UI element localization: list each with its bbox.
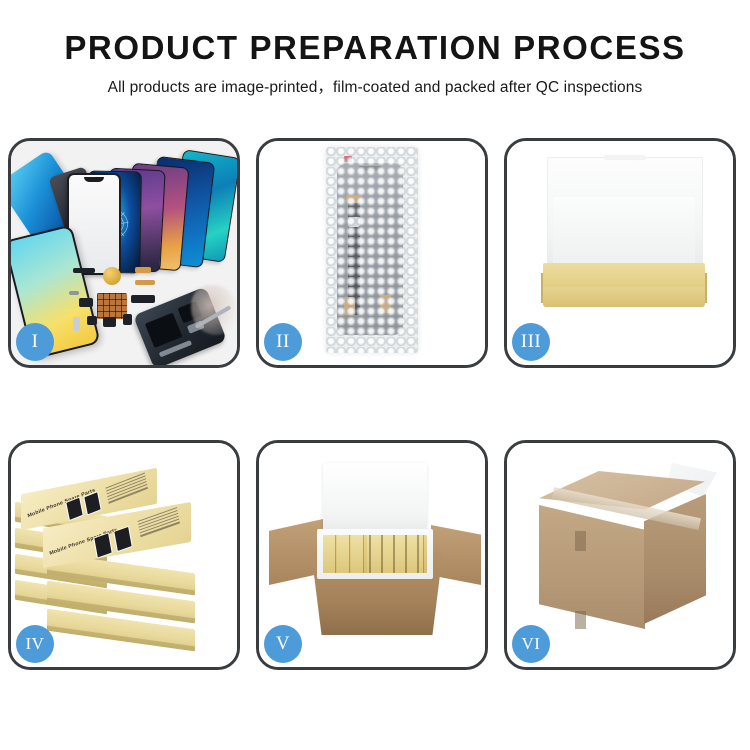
page-title: PRODUCT PREPARATION PROCESS — [0, 30, 750, 66]
box-art-screen-2a — [93, 532, 113, 559]
phone-display-fan — [73, 151, 233, 276]
process-step-4: Mobile Phone Spare Parts Mobile Phone Sp… — [8, 440, 240, 670]
process-step-6: VI — [504, 440, 736, 670]
step-badge-6: VI — [512, 625, 550, 663]
process-step-2: II — [256, 138, 488, 368]
step-badge-4: IV — [16, 625, 54, 663]
flex-cable-2 — [135, 280, 155, 285]
vibration-motor — [103, 317, 116, 327]
camera-module — [87, 316, 97, 325]
bubble-wrap-bag — [326, 147, 418, 353]
step-badge-3: III — [512, 323, 550, 361]
step-badge-1: I — [16, 323, 54, 361]
step-badge-5: V — [264, 625, 302, 663]
carton-front-face — [539, 505, 645, 629]
box-art-screen-1b — [83, 491, 102, 516]
flex-cable-1 — [135, 267, 151, 273]
flex-cable-3 — [131, 295, 155, 303]
bubble-texture — [326, 147, 418, 353]
foam-sheet — [553, 197, 695, 271]
process-step-3: III — [504, 138, 736, 368]
box-art-screen-2b — [113, 526, 133, 553]
box-art-screen-1a — [65, 497, 84, 522]
component-strip — [73, 268, 95, 273]
carton-seam-lower — [575, 611, 586, 629]
page-header: PRODUCT PREPARATION PROCESS All products… — [0, 0, 750, 97]
packed-yellow-boxes — [323, 535, 427, 573]
speaker-component — [103, 267, 121, 285]
foam-lid-open — [323, 463, 427, 537]
process-step-5: V — [256, 440, 488, 670]
connector-block — [79, 298, 93, 307]
carton-seam-upper — [575, 531, 586, 551]
page-subtitle: All products are image-printed，film-coat… — [0, 75, 750, 97]
metal-bracket — [69, 291, 79, 295]
box-spec-lines-2 — [138, 507, 181, 540]
button-module — [123, 314, 132, 325]
process-step-1: I — [8, 138, 240, 368]
yellow-tray-front — [543, 287, 705, 307]
box-spec-lines-1 — [105, 473, 148, 507]
process-step-grid: I II III — [8, 138, 742, 670]
step-badge-2: II — [264, 323, 302, 361]
sim-tray — [73, 317, 80, 331]
